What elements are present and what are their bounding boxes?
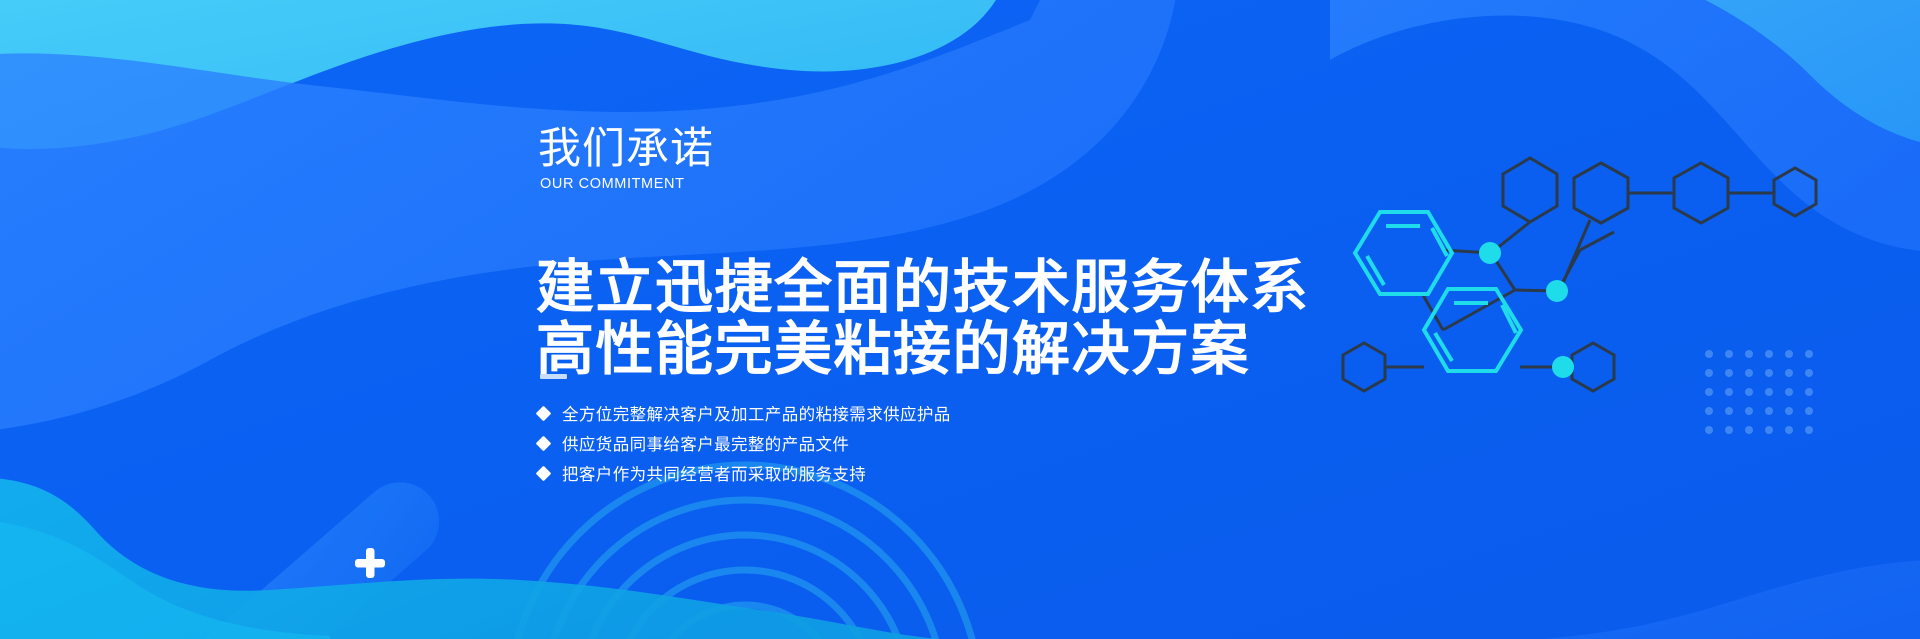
promo-banner: 我们承诺 OUR COMMITMENT 建立迅捷全面的技术服务体系 高性能完美粘… — [0, 0, 1920, 639]
list-item-label: 供应货品同事给客户最完整的产品文件 — [562, 431, 849, 455]
page-title: 建立迅捷全面的技术服务体系 高性能完美粘接的解决方案 — [536, 257, 1310, 381]
diamond-bullet-icon — [536, 465, 552, 481]
diamond-bullet-icon — [536, 405, 552, 421]
accent-dash — [540, 374, 567, 379]
eyebrow-title-cn: 我们承诺 — [538, 128, 714, 171]
list-item: 全方位完整解决客户及加工产品的粘接需求供应护品 — [538, 398, 951, 428]
bond-node-1 — [1479, 242, 1501, 264]
list-item: 供应货品同事给客户最完整的产品文件 — [538, 428, 951, 458]
list-item-label: 全方位完整解决客户及加工产品的粘接需求供应护品 — [562, 401, 951, 425]
headline-line-2: 高性能完美粘接的解决方案 — [536, 319, 1310, 381]
banner-content: 我们承诺 OUR COMMITMENT 建立迅捷全面的技术服务体系 高性能完美粘… — [538, 0, 1238, 639]
diamond-bullet-icon — [536, 435, 552, 451]
list-item: 把客户作为共同经营者而采取的服务支持 — [538, 458, 951, 488]
eyebrow-title-en: OUR COMMITMENT — [540, 177, 685, 192]
list-item-label: 把客户作为共同经营者而采取的服务支持 — [562, 461, 866, 485]
headline-line-1: 建立迅捷全面的技术服务体系 — [536, 257, 1310, 319]
bond-node-2 — [1546, 280, 1568, 302]
commitment-list: 全方位完整解决客户及加工产品的粘接需求供应护品 供应货品同事给客户最完整的产品文… — [538, 398, 951, 488]
bond-node-3 — [1552, 356, 1574, 378]
